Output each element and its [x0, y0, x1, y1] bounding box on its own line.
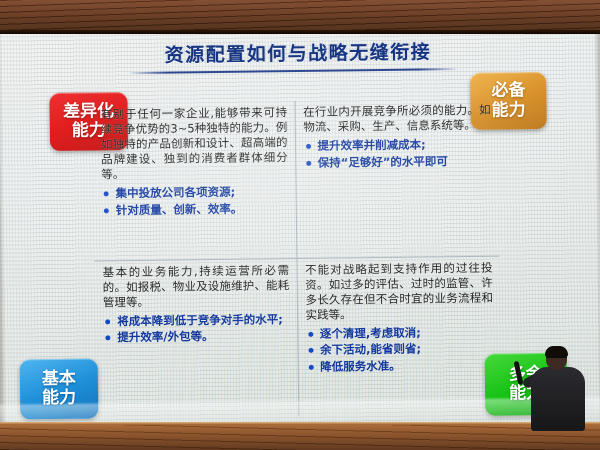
list-item: 针对质量、创新、效率。: [102, 201, 289, 219]
quadrant-must-have-bullets: 提升效率并削减成本; 保持“足够好”的水平即可: [303, 137, 491, 171]
list-item: 保持“足够好”的水平即可: [304, 153, 492, 171]
list-item: 降低服务水准。: [306, 357, 494, 375]
quadrant-differentiating: 有别于任何一家企业,能够带来可持续竞争优势的3~5种独特的能力。例如独特的产品创…: [93, 101, 297, 261]
room-wall-bottom: [0, 422, 600, 450]
conference-room-photo: 资源配置如何与战略无缝衔接 差异化 能力 必备 能力 基本 能力 多余 能力: [0, 0, 600, 450]
list-item: 提升效率并削减成本;: [303, 137, 491, 155]
slide-title-area: 资源配置如何与战略无缝衔接: [0, 35, 600, 69]
quadrant-surplus-paragraph: 不能对战略起到支持作用的过往投资。如过多的评估、过时的监管、许多长久存在但不合时…: [305, 260, 493, 322]
quadrant-basic-bullets: 将成本降到低于竞争对手的水平; 提升效率/外包等。: [103, 312, 290, 346]
page-title: 资源配置如何与战略无缝衔接: [164, 37, 431, 67]
quadrant-basic: 基本的业务能力,持续运营所必需的。如报税、物业及设施维护、能耗管理等。 将成本降…: [94, 259, 298, 419]
presentation-slide: 资源配置如何与战略无缝衔接 差异化 能力 必备 能力 基本 能力 多余 能力: [0, 19, 600, 429]
quadrant-basic-paragraph: 基本的业务能力,持续运营所必需的。如报税、物业及设施维护、能耗管理等。: [102, 263, 289, 310]
badge-basic-line1: 基本: [42, 369, 76, 389]
list-item: 提升效率/外包等。: [103, 328, 290, 346]
glasses-icon: [546, 356, 567, 363]
presenter-silhouette: [520, 346, 594, 430]
quadrant-must-have: 在行业内开展竞争所必须的能力。如物流、采购、生产、信息系统等。 提升效率并削减成…: [295, 99, 499, 259]
list-item: 将成本降到低于竞争对手的水平;: [103, 312, 290, 330]
badge-basic-capability: 基本 能力: [20, 358, 99, 419]
led-projection-screen: 资源配置如何与战略无缝衔接 差异化 能力 必备 能力 基本 能力 多余 能力: [0, 19, 600, 429]
capability-matrix: 有别于任何一家企业,能够带来可持续竞争优势的3~5种独特的能力。例如独特的产品创…: [93, 99, 502, 419]
quadrant-surplus: 不能对战略起到支持作用的过往投资。如过多的评估、过时的监管、许多长久存在但不合时…: [297, 256, 501, 416]
quadrant-differentiating-paragraph: 有别于任何一家企业,能够带来可持续竞争优势的3~5种独特的能力。例如独特的产品创…: [101, 105, 288, 182]
list-item: 余下活动,能省则省;: [306, 341, 494, 359]
title-underline-divider: [128, 68, 458, 74]
quadrant-differentiating-bullets: 集中投放公司各项资源; 针对质量、创新、效率。: [102, 184, 289, 218]
room-wall-top: [0, 0, 600, 34]
badge-basic-line2: 能力: [42, 389, 76, 409]
quadrant-surplus-bullets: 逐个清理,考虑取消; 余下活动,能省则省; 降低服务水准。: [306, 324, 494, 375]
list-item: 逐个清理,考虑取消;: [306, 324, 494, 342]
quadrant-must-have-paragraph: 在行业内开展竞争所必须的能力。如物流、采购、生产、信息系统等。: [303, 103, 491, 135]
list-item: 集中投放公司各项资源;: [102, 184, 289, 202]
presenter-body: [531, 367, 585, 431]
